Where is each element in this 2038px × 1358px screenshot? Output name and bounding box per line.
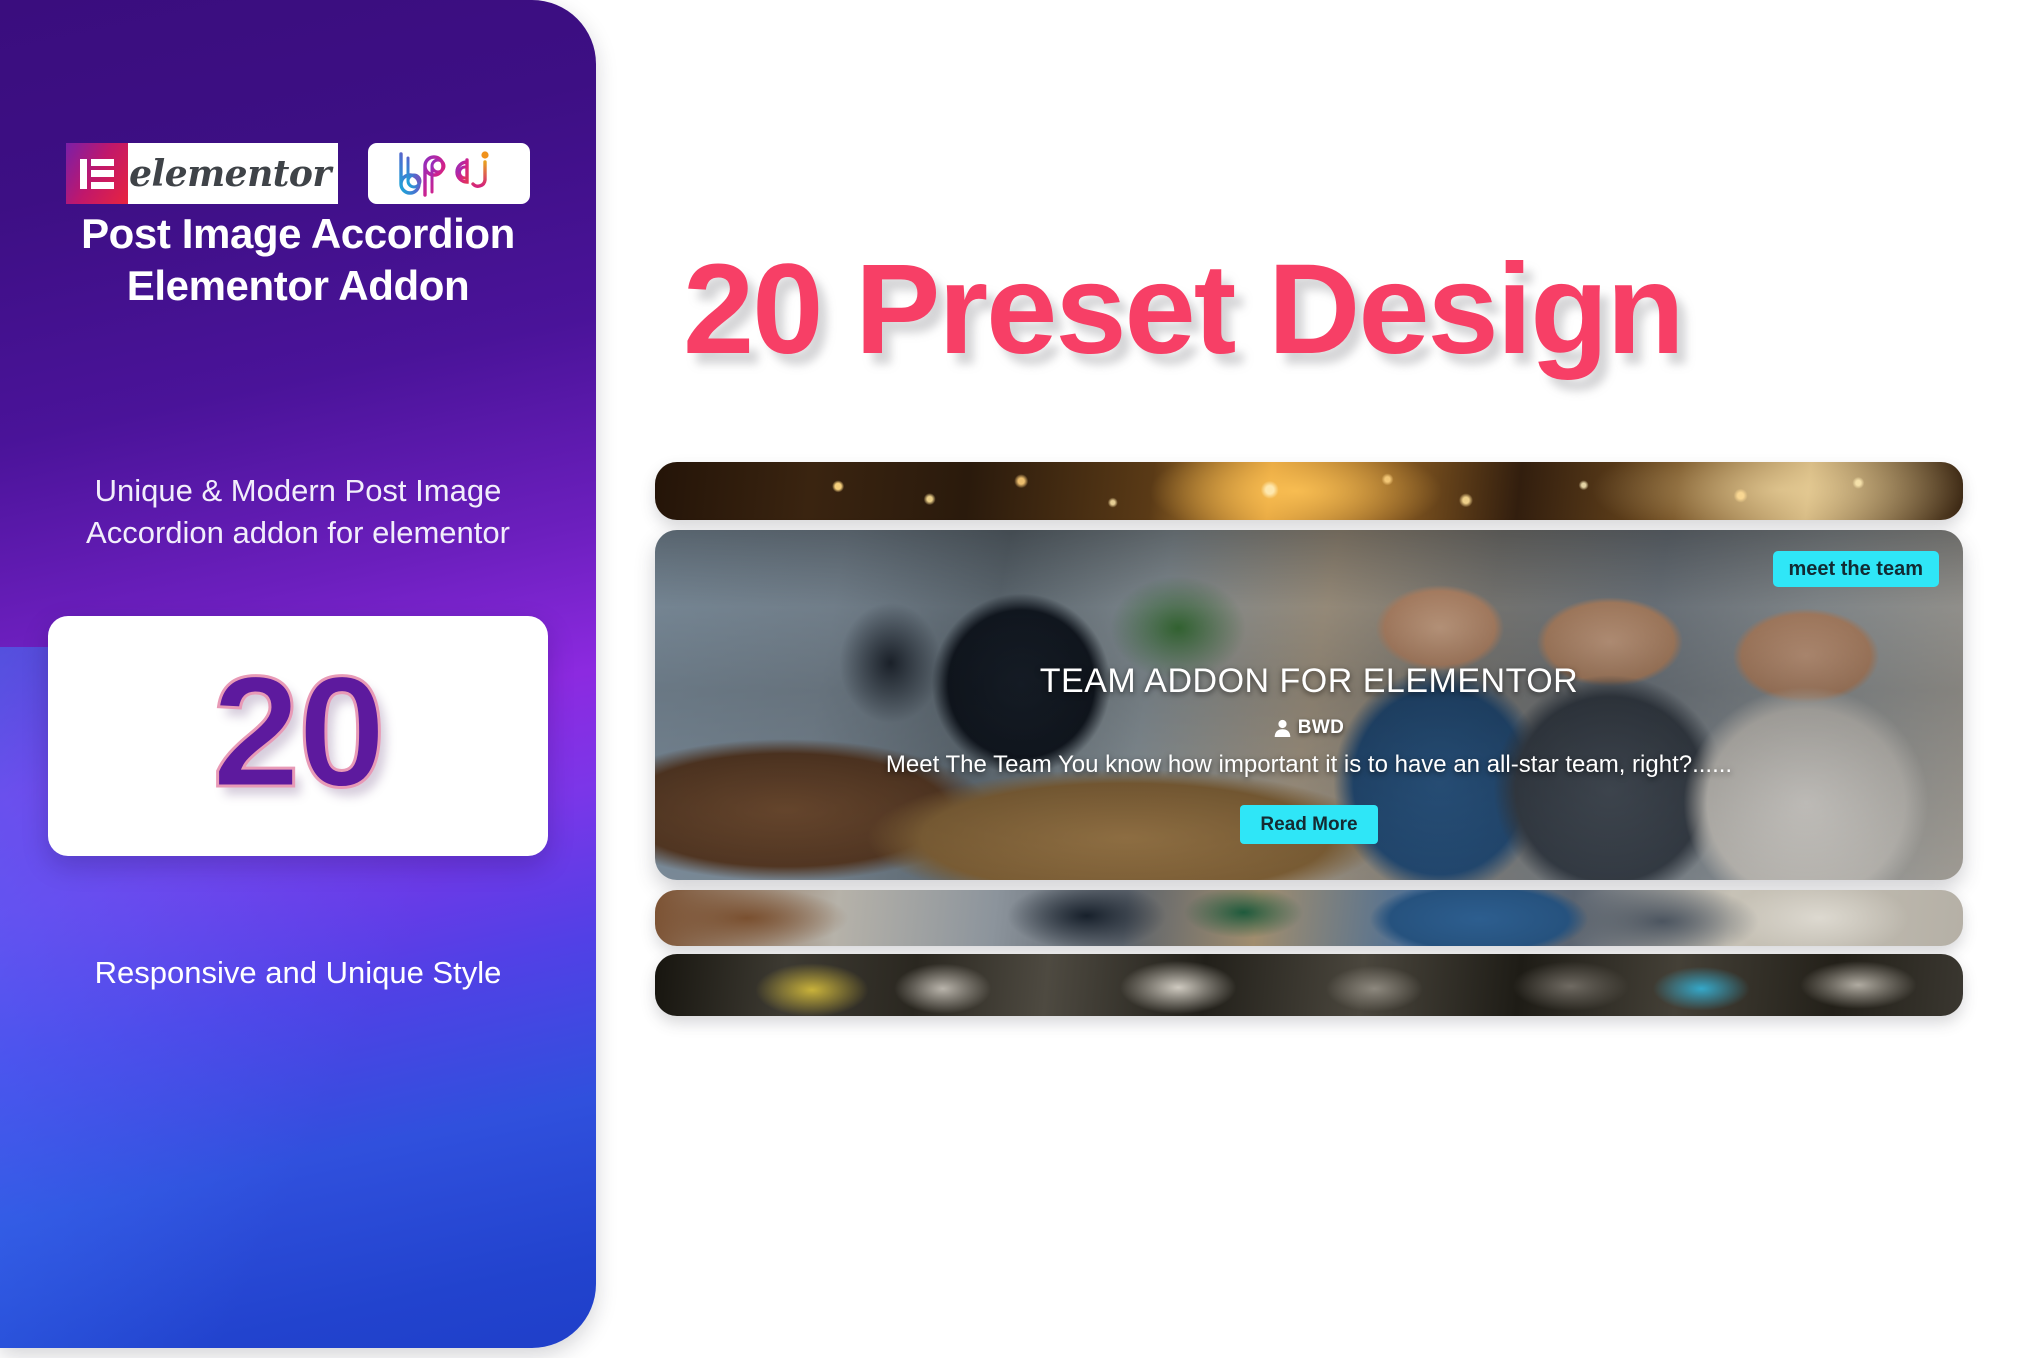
sidebar-title-line1: Post Image Accordion <box>16 208 580 260</box>
logo-row: elementor <box>0 143 596 204</box>
poster-canvas: elementor <box>0 0 2038 1358</box>
elementor-wordmark: elementor <box>128 143 338 204</box>
accordion-strip-cowork[interactable] <box>655 954 1963 1016</box>
accordion-strip-desk[interactable] <box>655 890 1963 946</box>
person-icon <box>1274 719 1291 737</box>
panel-author-name: BWD <box>1298 717 1345 739</box>
sidebar-subtitle: Unique & Modern Post Image Accordion add… <box>0 470 596 554</box>
page-headline: 20 Preset Design <box>683 246 1683 374</box>
bpi-logo <box>368 143 530 204</box>
read-more-button[interactable]: Read More <box>1240 805 1377 844</box>
preset-count-card: 20 <box>48 616 548 856</box>
panel-description: Meet The Team You know how important it … <box>655 751 1963 779</box>
panel-title: TEAM ADDON FOR ELEMENTOR <box>655 662 1963 701</box>
elementor-mark-icon <box>66 143 128 204</box>
elementor-logo: elementor <box>66 143 338 204</box>
accordion-strip-team[interactable]: meet the team TEAM ADDON FOR ELEMENTOR B… <box>655 530 1963 880</box>
accordion-strip-lights[interactable] <box>655 462 1963 520</box>
sidebar-title: Post Image Accordion Elementor Addon <box>0 208 596 312</box>
panel-content: TEAM ADDON FOR ELEMENTOR BWD Meet The Te… <box>655 662 1963 844</box>
panel-author: BWD <box>655 717 1963 739</box>
sidebar-panel: elementor <box>0 0 596 1348</box>
bpi-logo-icon <box>387 150 511 198</box>
preset-count-number: 20 <box>212 653 384 811</box>
image-accordion: meet the team TEAM ADDON FOR ELEMENTOR B… <box>655 462 1963 912</box>
sidebar-subtitle-line1: Unique & Modern Post Image <box>24 470 572 512</box>
meet-the-team-badge[interactable]: meet the team <box>1773 551 1940 587</box>
sidebar-footer-text: Responsive and Unique Style <box>0 955 596 991</box>
sidebar-title-line2: Elementor Addon <box>16 260 580 312</box>
sidebar-subtitle-line2: Accordion addon for elementor <box>24 512 572 554</box>
